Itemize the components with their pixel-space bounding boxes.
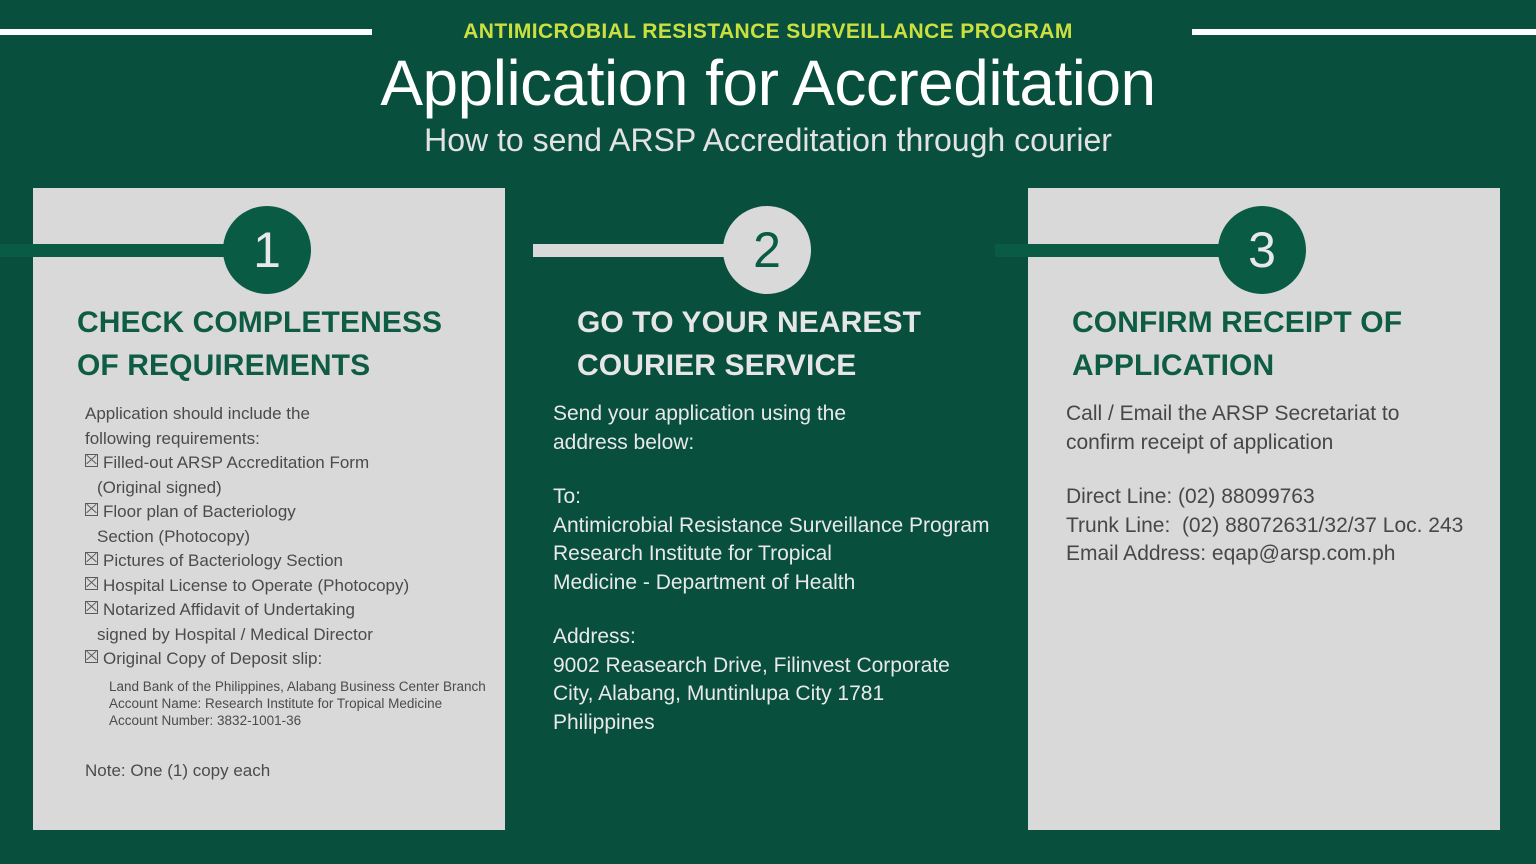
courier-intro-line-2: address below: xyxy=(553,429,1001,458)
email-address-contact: Email Address: eqap@arsp.com.ph xyxy=(1066,540,1486,569)
checkbox-icon xyxy=(85,650,98,663)
requirement-item: Notarized Affidavit of Undertaking xyxy=(85,598,491,623)
program-eyebrow: ANTIMICROBIAL RESISTANCE SURVEILLANCE PR… xyxy=(0,20,1536,44)
confirm-intro-line-1: Call / Email the ARSP Secretariat to xyxy=(1066,400,1486,429)
requirement-continuation: (Original signed) xyxy=(85,476,491,501)
address-line-3: Philippines xyxy=(553,709,1001,738)
step-connector-3 xyxy=(995,244,1230,257)
bank-details: Land Bank of the Philippines, Alabang Bu… xyxy=(85,678,491,729)
copies-note: Note: One (1) copy each xyxy=(85,759,491,783)
requirements-intro-line-2: following requirements: xyxy=(85,427,491,452)
requirement-item: Floor plan of Bacteriology xyxy=(85,500,491,525)
step-number-badge-2: 2 xyxy=(723,206,811,294)
requirement-label: Floor plan of Bacteriology xyxy=(103,500,296,525)
requirement-label: Hospital License to Operate (Photocopy) xyxy=(103,574,409,599)
checkbox-icon xyxy=(85,577,98,590)
confirm-intro-line-2: confirm receipt of application xyxy=(1066,429,1486,458)
step-card-3: 3 CONFIRM RECEIPT OF APPLICATION Call / … xyxy=(1028,188,1500,830)
step-heading-3: CONFIRM RECEIPT OF APPLICATION xyxy=(1072,301,1490,387)
requirement-label: Pictures of Bacteriology Section xyxy=(103,549,343,574)
bank-account-number: Account Number: 3832-1001-36 xyxy=(109,712,491,729)
bank-account-name: Account Name: Research Institute for Tro… xyxy=(109,695,491,712)
step-card-2: 2 GO TO YOUR NEAREST COURIER SERVICE Sen… xyxy=(533,188,1005,830)
requirement-label: Notarized Affidavit of Undertaking xyxy=(103,598,355,623)
checkbox-icon xyxy=(85,454,98,467)
step-heading-1-line-2: OF REQUIREMENTS xyxy=(77,344,495,387)
page-title: Application for Accreditation xyxy=(0,44,1536,122)
requirement-item: Filled-out ARSP Accreditation Form xyxy=(85,451,491,476)
step-card-1: 1 CHECK COMPLETENESS OF REQUIREMENTS App… xyxy=(33,188,505,830)
checkbox-icon xyxy=(85,601,98,614)
requirements-intro-line-1: Application should include the xyxy=(85,402,491,427)
step-heading-1: CHECK COMPLETENESS OF REQUIREMENTS xyxy=(77,301,495,387)
step-body-2: Send your application using the address … xyxy=(553,400,1001,737)
address-line-2: City, Alabang, Muntinlupa City 1781 xyxy=(553,680,1001,709)
step-heading-2: GO TO YOUR NEAREST COURIER SERVICE xyxy=(577,301,995,387)
recipient-line-2: Research Institute for Tropical xyxy=(553,540,1001,569)
requirement-continuation: signed by Hospital / Medical Director xyxy=(85,623,491,648)
courier-intro-line-1: Send your application using the xyxy=(553,400,1001,429)
requirement-label: Original Copy of Deposit slip: xyxy=(103,647,322,672)
recipient-line-1: Antimicrobial Resistance Surveillance Pr… xyxy=(553,512,1001,541)
requirement-item: Hospital License to Operate (Photocopy) xyxy=(85,574,491,599)
requirement-item: Pictures of Bacteriology Section xyxy=(85,549,491,574)
spacer xyxy=(85,729,491,759)
address-label: Address: xyxy=(553,623,1001,652)
page-subtitle: How to send ARSP Accreditation through c… xyxy=(0,120,1536,160)
spacer xyxy=(1066,457,1486,483)
step-heading-3-line-1: CONFIRM RECEIPT OF xyxy=(1072,301,1490,344)
step-number-badge-3: 3 xyxy=(1218,206,1306,294)
trunk-line-contact: Trunk Line: (02) 88072631/32/37 Loc. 243 xyxy=(1066,512,1486,541)
spacer xyxy=(553,457,1001,483)
requirement-item: Original Copy of Deposit slip: xyxy=(85,647,491,672)
checkbox-icon xyxy=(85,552,98,565)
step-body-1: Application should include the following… xyxy=(85,402,491,783)
address-line-1: 9002 Reasearch Drive, Filinvest Corporat… xyxy=(553,652,1001,681)
recipient-label: To: xyxy=(553,483,1001,512)
poster-root: ANTIMICROBIAL RESISTANCE SURVEILLANCE PR… xyxy=(0,0,1536,864)
step-heading-1-line-1: CHECK COMPLETENESS xyxy=(77,301,495,344)
bank-name: Land Bank of the Philippines, Alabang Bu… xyxy=(109,678,491,695)
step-heading-2-line-2: COURIER SERVICE xyxy=(577,344,995,387)
checkbox-icon xyxy=(85,503,98,516)
step-body-3: Call / Email the ARSP Secretariat to con… xyxy=(1066,400,1486,569)
recipient-line-3: Medicine - Department of Health xyxy=(553,569,1001,598)
step-heading-3-line-2: APPLICATION xyxy=(1072,344,1490,387)
step-connector-1 xyxy=(0,244,235,257)
requirement-continuation: Section (Photocopy) xyxy=(85,525,491,550)
direct-line-contact: Direct Line: (02) 88099763 xyxy=(1066,483,1486,512)
step-heading-2-line-1: GO TO YOUR NEAREST xyxy=(577,301,995,344)
step-number-badge-1: 1 xyxy=(223,206,311,294)
requirement-label: Filled-out ARSP Accreditation Form xyxy=(103,451,369,476)
spacer xyxy=(553,597,1001,623)
